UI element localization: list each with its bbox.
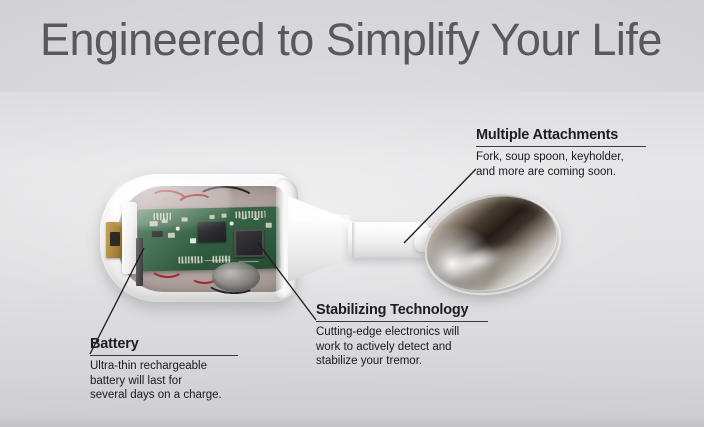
callout-title: Stabilizing Technology: [316, 302, 488, 319]
callout-title: Multiple Attachments: [476, 127, 646, 144]
callout-body-line: work to actively detect and: [316, 340, 488, 355]
callout-body-line: several days on a charge.: [90, 388, 238, 403]
chip-controller: [234, 229, 265, 258]
callout-body-line: and more are coming soon.: [476, 165, 646, 180]
callout-battery: Battery Ultra-thin rechargeable battery …: [90, 336, 238, 403]
callout-body-line: Ultra-thin rechargeable: [90, 359, 238, 374]
spoon-bowl: [415, 182, 567, 304]
callout-body-line: stabilize your tremor.: [316, 354, 488, 369]
callout-title: Battery: [90, 336, 238, 353]
callout-body-line: Fork, soup spoon, keyholder,: [476, 150, 646, 165]
internal-post: [122, 202, 137, 274]
vibration-motor: [212, 262, 260, 292]
callout-body-line: Cutting-edge electronics will: [316, 325, 488, 340]
callout-rule: [90, 355, 238, 356]
callout-body-line: battery will last for: [90, 374, 238, 389]
callout-rule: [316, 321, 488, 322]
battery-cell: [136, 238, 143, 286]
callout-stabilizing-technology: Stabilizing Technology Cutting-edge elec…: [316, 302, 488, 369]
callout-rule: [476, 146, 646, 147]
chip-processor: [198, 222, 226, 243]
product-infographic: Engineered to Simplify Your Life: [0, 0, 704, 427]
callout-multiple-attachments: Multiple Attachments Fork, soup spoon, k…: [476, 127, 646, 179]
connector-contact: [110, 232, 120, 246]
attachment-collar: [352, 222, 356, 258]
